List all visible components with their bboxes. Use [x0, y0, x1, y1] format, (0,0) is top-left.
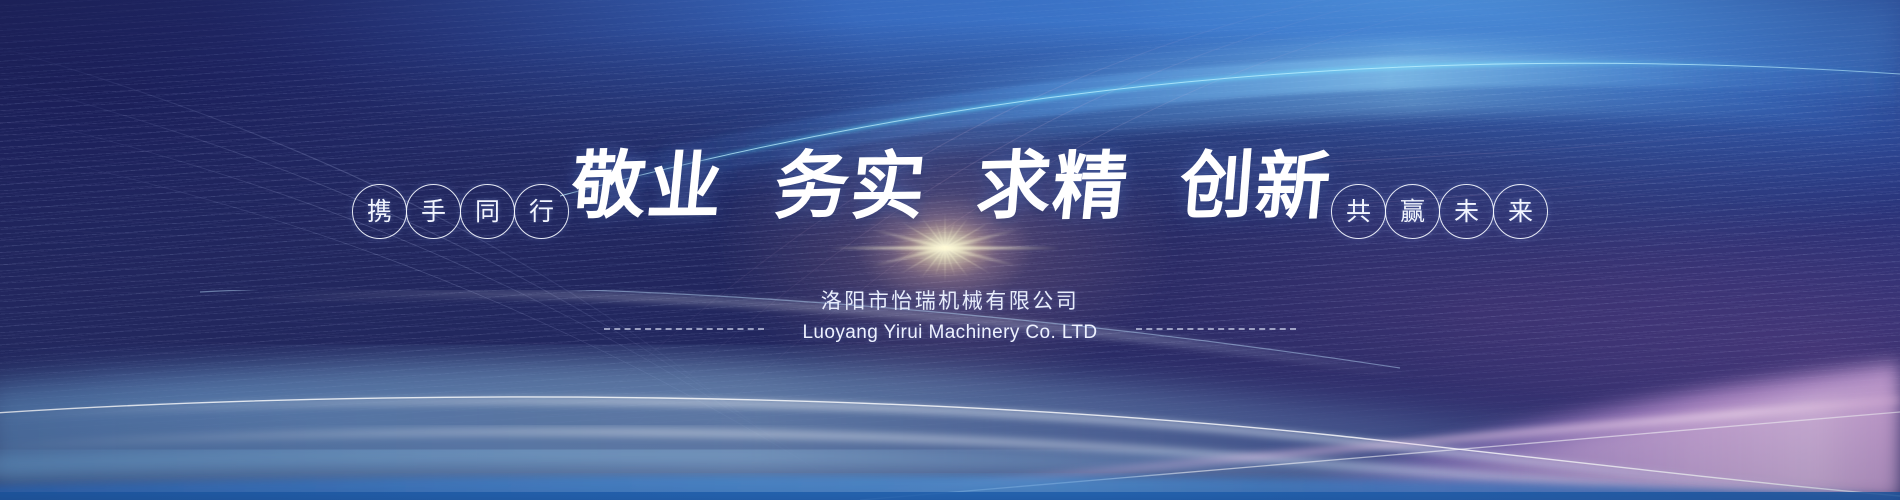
slogan-word-jingye: 敬 业 [569, 146, 727, 224]
slogan-char-qiu: 求 [974, 148, 1056, 224]
circled-phrase-left: 携 手 同 行 [352, 184, 568, 239]
company-identity-block: 洛阳市怡瑞机械有限公司 Luoyang Yirui Machinery Co. … [0, 286, 1900, 348]
slogan-word-wushi: 务 实 [772, 146, 930, 224]
slogan-char-shi: 实 [847, 150, 930, 225]
slogan-word-qiujing: 求 精 [974, 146, 1132, 224]
divider-dashed-left [604, 328, 764, 330]
slogan-char-xin: 新 [1252, 150, 1335, 225]
slogan-word-chuangxin: 创 新 [1177, 146, 1335, 224]
slogan-char-jing2: 精 [1050, 150, 1133, 225]
company-names: 洛阳市怡瑞机械有限公司 Luoyang Yirui Machinery Co. … [764, 286, 1135, 348]
circled-char-ying: 赢 [1385, 184, 1440, 239]
slogan-char-jing: 敬 [569, 148, 651, 224]
slogan-char-ye: 业 [644, 150, 727, 225]
circled-char-lai: 来 [1493, 184, 1548, 239]
circled-char-xie: 携 [352, 184, 407, 239]
circled-char-gong: 共 [1331, 184, 1386, 239]
marketing-banner: 携 手 同 行 敬 业 务 实 求 精 创 新 共 赢 未 来 洛阳市怡瑞机 [0, 0, 1900, 500]
circled-char-shou: 手 [406, 184, 461, 239]
circled-phrase-right: 共 赢 未 来 [1331, 184, 1547, 239]
circled-char-tong: 同 [460, 184, 515, 239]
circled-char-wei: 未 [1439, 184, 1494, 239]
slogan-char-chuang: 创 [1177, 148, 1259, 224]
divider-dashed-right [1136, 328, 1296, 330]
slogan-calligraphy: 敬 业 务 实 求 精 创 新 [572, 130, 1332, 240]
circled-char-xing: 行 [514, 184, 569, 239]
slogan-char-wu: 务 [772, 148, 854, 224]
company-name-cn: 洛阳市怡瑞机械有限公司 [802, 286, 1097, 316]
company-name-en: Luoyang Yirui Machinery Co. LTD [802, 319, 1097, 348]
